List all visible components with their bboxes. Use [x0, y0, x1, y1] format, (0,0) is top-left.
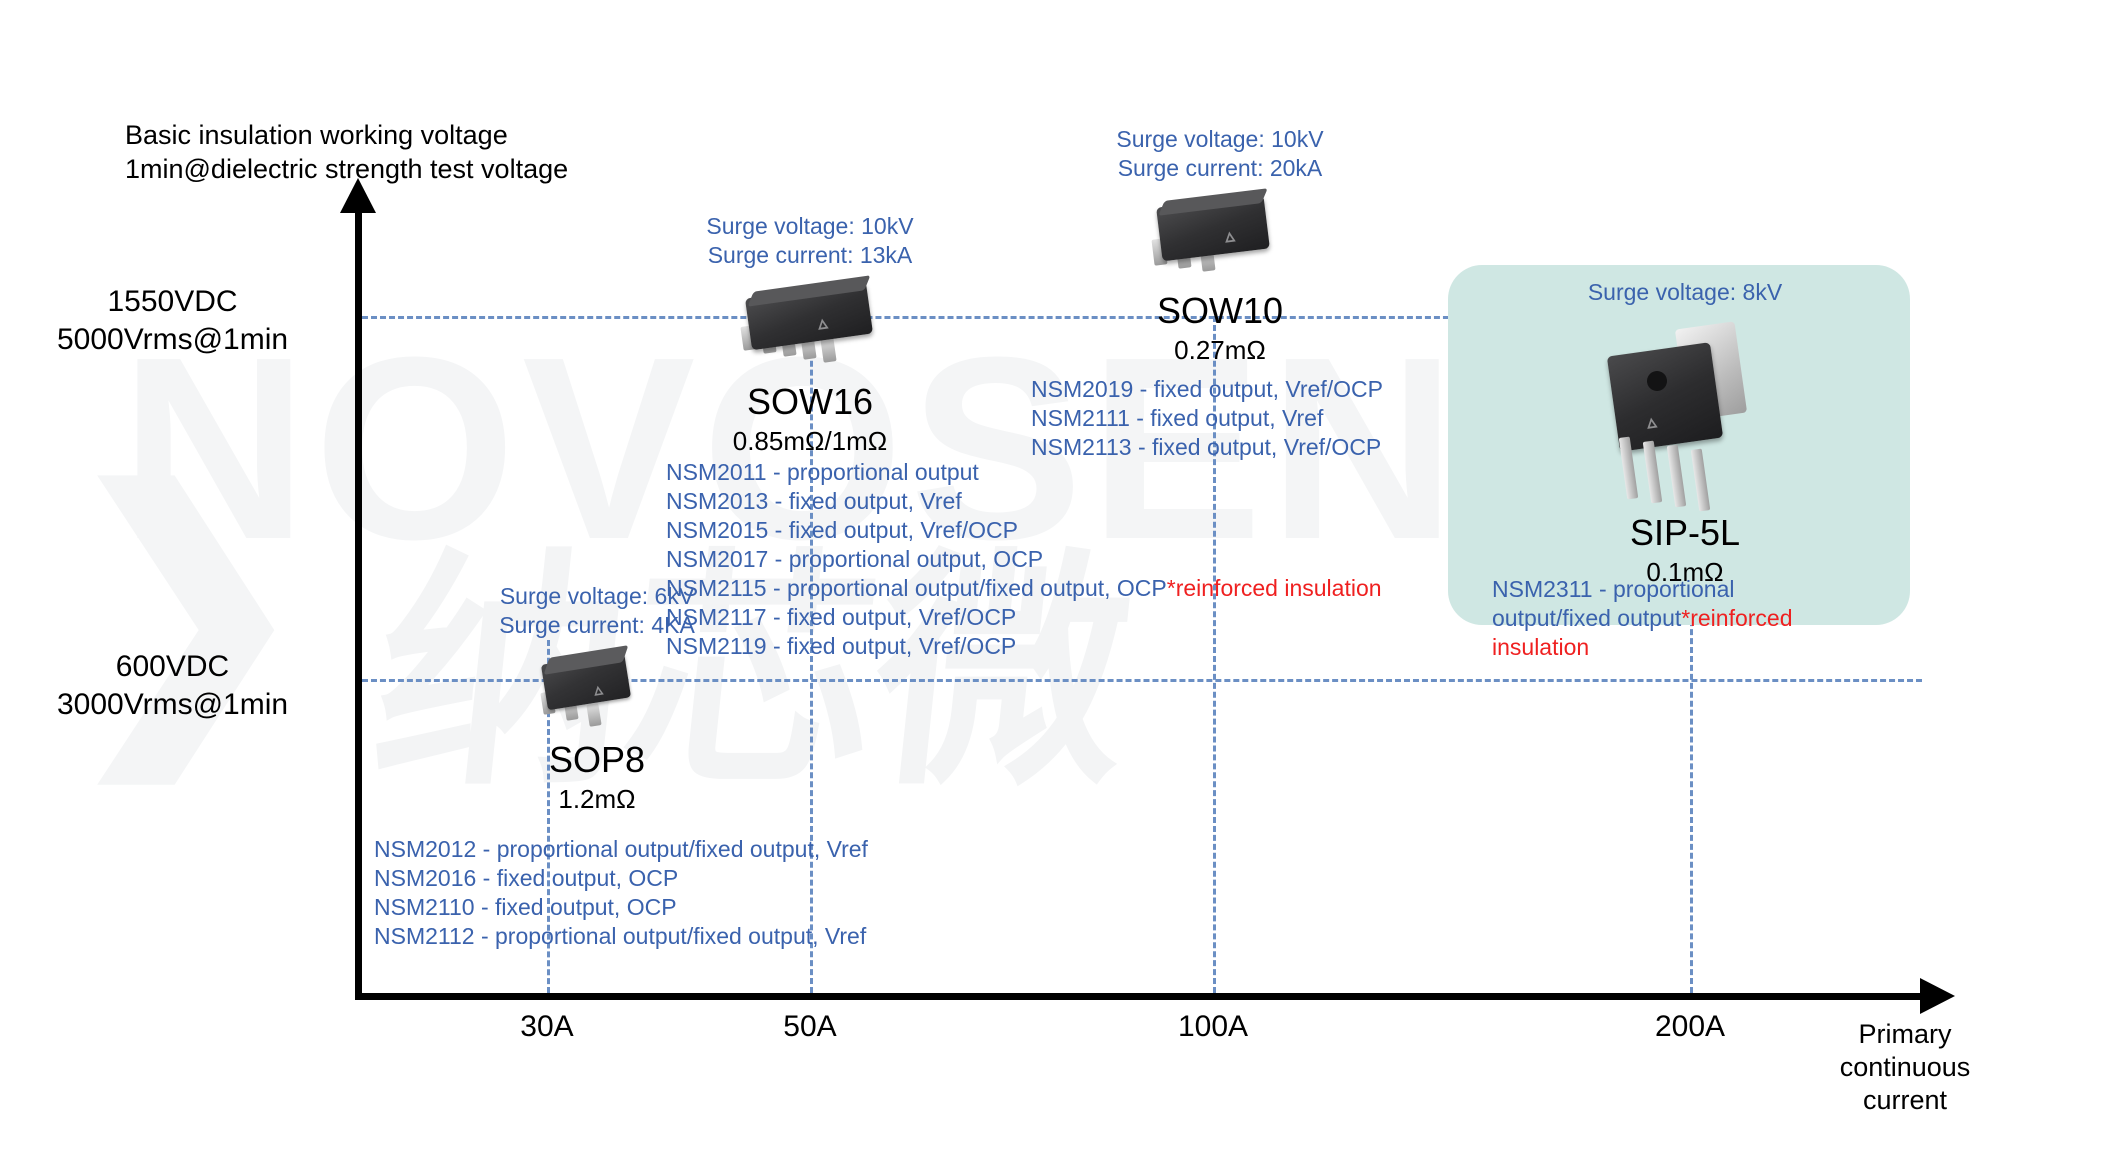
y-tick-600-line2: 3000Vrms@1min — [0, 686, 345, 724]
sow10-chip-image: ▵ — [1125, 193, 1315, 285]
x-axis-line — [355, 993, 1930, 1000]
list-item: NSM2117 - fixed output, Vref/OCP — [666, 603, 1382, 632]
sow16-surge-current: Surge current: 13kA — [660, 241, 960, 270]
y-tick-1550-line2: 5000Vrms@1min — [0, 321, 345, 359]
sip5l-surge-voltage: Surge voltage: 8kV — [1520, 278, 1850, 307]
list-item: NSM2017 - proportional output, OCP — [666, 545, 1382, 574]
y-axis-line — [355, 205, 362, 1000]
package-block-sow16[interactable]: Surge voltage: 10kV Surge current: 13kA … — [660, 212, 960, 458]
sow10-surge-annotation: Surge voltage: 10kV Surge current: 20kA — [1060, 125, 1380, 183]
list-item: NSM2012 - proportional output/fixed outp… — [374, 835, 868, 864]
sow16-surge-voltage: Surge voltage: 10kV — [660, 212, 960, 241]
package-block-sip5l[interactable]: Surge voltage: 8kV ▵ SIP-5L 0.1mΩ — [1520, 278, 1850, 589]
sow16-surge-annotation: Surge voltage: 10kV Surge current: 13kA — [660, 212, 960, 270]
y-tick-600-line1: 600VDC — [0, 648, 345, 686]
sow10-surge-voltage: Surge voltage: 10kV — [1060, 125, 1380, 154]
list-item: NSM2115 - proportional output/fixed outp… — [666, 574, 1382, 603]
x-axis-title-line2: current — [1790, 1084, 2020, 1117]
y-tick-label-1550vdc: 1550VDC 5000Vrms@1min — [0, 283, 345, 359]
y-axis-title: Basic insulation working voltage 1min@di… — [125, 118, 568, 186]
list-item: NSM2112 - proportional output/fixed outp… — [374, 922, 868, 951]
sop8-package-name: SOP8 — [447, 738, 747, 782]
list-item-text: NSM2115 - proportional output/fixed outp… — [666, 575, 1167, 601]
list-item: NSM2111 - fixed output, Vref — [1031, 404, 1383, 433]
list-item: NSM2110 - fixed output, OCP — [374, 893, 868, 922]
x-axis-arrow-icon — [1920, 978, 1955, 1014]
sow10-vendor-logo-icon: ▵ — [1224, 225, 1236, 249]
y-axis-title-line2: 1min@dielectric strength test voltage — [125, 152, 568, 186]
sow16-part-list[interactable]: NSM2011 - proportional output NSM2013 - … — [666, 458, 1382, 661]
sow16-resistance: 0.85mΩ/1mΩ — [660, 424, 960, 458]
list-item: NSM2015 - fixed output, Vref/OCP — [666, 516, 1382, 545]
list-item: NSM2019 - fixed output, Vref/OCP — [1031, 375, 1383, 404]
list-item: NSM2119 - fixed output, Vref/OCP — [666, 632, 1382, 661]
x-axis-title: Primary continuous current — [1790, 1018, 2020, 1117]
list-item-note: *reinforced insulation — [1167, 575, 1382, 601]
sow10-part-list[interactable]: NSM2019 - fixed output, Vref/OCP NSM2111… — [1031, 375, 1383, 462]
x-tick-label-100a: 100A — [1143, 1010, 1283, 1044]
x-tick-label-200a: 200A — [1620, 1010, 1760, 1044]
x-tick-label-30a: 30A — [477, 1010, 617, 1044]
list-item: NSM2016 - fixed output, OCP — [374, 864, 868, 893]
x-tick-label-50a: 50A — [740, 1010, 880, 1044]
y-axis-title-line1: Basic insulation working voltage — [125, 118, 568, 152]
list-item: NSM2311 - proportional output/fixed outp… — [1492, 575, 1844, 662]
sip5l-surge-annotation: Surge voltage: 8kV — [1520, 278, 1850, 307]
sop8-chip-image: ▵ — [522, 648, 672, 734]
y-tick-1550-line1: 1550VDC — [0, 283, 345, 321]
x-axis-title-line1: Primary continuous — [1790, 1018, 2020, 1084]
sip5l-package-name: SIP-5L — [1520, 511, 1850, 555]
sow10-resistance: 0.27mΩ — [1060, 333, 1380, 367]
sop8-resistance: 1.2mΩ — [447, 782, 747, 816]
sow16-package-name: SOW16 — [660, 380, 960, 424]
y-tick-label-600vdc: 600VDC 3000Vrms@1min — [0, 648, 345, 724]
sip5l-part-list[interactable]: NSM2311 - proportional output/fixed outp… — [1492, 575, 1844, 662]
sop8-part-list[interactable]: NSM2012 - proportional output/fixed outp… — [374, 835, 868, 951]
sow10-surge-current: Surge current: 20kA — [1060, 154, 1380, 183]
sip5l-chip-image: ▵ — [1585, 319, 1785, 509]
list-item: NSM2011 - proportional output — [666, 458, 1382, 487]
list-item: NSM2013 - fixed output, Vref — [666, 487, 1382, 516]
list-item: NSM2113 - fixed output, Vref/OCP — [1031, 433, 1383, 462]
package-block-sow10[interactable]: Surge voltage: 10kV Surge current: 20kA … — [1060, 125, 1380, 367]
sow16-chip-image: ▵ — [710, 282, 910, 374]
sow10-package-name: SOW10 — [1060, 289, 1380, 333]
